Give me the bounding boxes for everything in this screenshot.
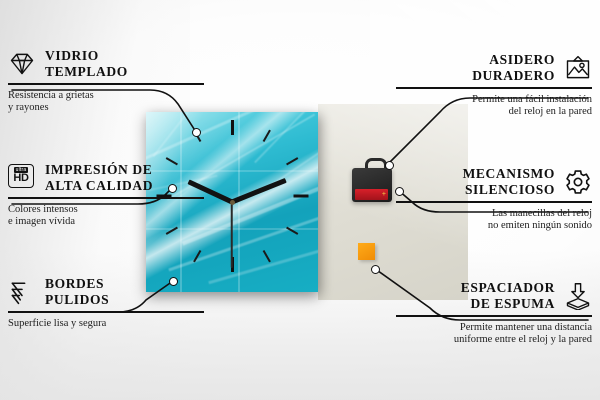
feature-title-line2: SILENCIOSO [465, 182, 555, 197]
connector-dot-asidero [385, 161, 394, 170]
feature-vidrio-templado: VIDRIO TEMPLADO Resistencia a grietas y … [8, 48, 204, 115]
feature-title: IMPRESIÓN DE ALTA CALIDAD [45, 162, 204, 193]
feature-subtitle-line2: del reloj en la pared [509, 106, 592, 117]
feature-subtitle: Permite una fácil instalación del reloj … [396, 94, 592, 119]
picture-frame-hook-icon [564, 54, 592, 82]
feature-title-line1: ASIDERO [489, 52, 555, 67]
clock-second-hand [231, 202, 233, 268]
feature-subtitle-line1: Resistencia a grietas [8, 90, 94, 101]
feature-divider [8, 83, 204, 85]
feature-title-line2: TEMPLADO [45, 64, 128, 79]
feature-title-line1: MECANISMO [463, 166, 555, 181]
feature-divider [396, 201, 592, 203]
feature-asidero-duradero: ASIDERO DURADERO Permite una fácil insta… [396, 52, 592, 119]
feature-title-line2: DURADERO [472, 68, 555, 83]
feature-subtitle-line2: y rayones [8, 102, 49, 113]
feature-title-line1: IMPRESIÓN DE [45, 162, 152, 177]
feature-subtitle: Colores intensos e imagen vívida [8, 204, 204, 229]
feature-divider [396, 315, 592, 317]
infographic-stage: + [0, 0, 600, 400]
feature-bordes-pulidos: BORDES PULIDOS Superficie lisa y segura [8, 276, 204, 330]
feature-subtitle-line2: e imagen vívida [8, 216, 75, 227]
feature-subtitle: Las manecillas del reloj no emiten ningú… [396, 208, 592, 233]
feature-espaciador-de-espuma: ESPACIADOR DE ESPUMA Permite mantener un… [396, 280, 592, 347]
polished-edges-icon [8, 278, 36, 306]
feature-subtitle-line1: Permite una fácil instalación [472, 94, 592, 105]
feature-impresion-alta-calidad: ultra HD IMPRESIÓN DE ALTA CALIDAD Color… [8, 162, 204, 229]
feature-subtitle-line1: Permite mantener una distancia [460, 322, 592, 333]
feature-title-line2: DE ESPUMA [470, 296, 555, 311]
feature-title: VIDRIO TEMPLADO [45, 48, 204, 79]
feature-title-line1: VIDRIO [45, 48, 99, 63]
feature-title: BORDES PULIDOS [45, 276, 204, 307]
feature-title: ESPACIADOR DE ESPUMA [396, 280, 555, 311]
feature-subtitle: Resistencia a grietas y rayones [8, 90, 204, 115]
foam-spacer [358, 243, 375, 260]
feature-divider [396, 87, 592, 89]
feature-title-line2: ALTA CALIDAD [45, 178, 153, 193]
feature-title-line2: PULIDOS [45, 292, 109, 307]
feature-subtitle-line2: no emiten ningún sonido [488, 220, 592, 231]
feature-subtitle-line2: uniforme entre el reloj y la pared [454, 334, 592, 345]
feature-mecanismo-silencioso: MECANISMO SILENCIOSO Las manecillas del … [396, 166, 592, 233]
ultra-hd-icon-main-label: HD [13, 173, 28, 184]
feature-subtitle: Permite mantener una distancia uniforme … [396, 322, 592, 347]
connector-dot-espaciador [371, 265, 380, 274]
diamond-icon [8, 50, 36, 78]
foam-spacer-arrow-icon [564, 282, 592, 310]
feature-divider [8, 197, 204, 199]
feature-subtitle-line1: Superficie lisa y segura [8, 318, 106, 329]
feature-title: MECANISMO SILENCIOSO [396, 166, 555, 197]
connector-dot-vidrio [192, 128, 201, 137]
feature-title-line1: ESPACIADOR [461, 280, 555, 295]
feature-title: ASIDERO DURADERO [396, 52, 555, 83]
clock-center-cap [230, 200, 235, 205]
feature-subtitle: Superficie lisa y segura [8, 318, 204, 331]
feature-subtitle-line1: Las manecillas del reloj [492, 208, 592, 219]
battery-plus-label: + [382, 191, 386, 198]
feature-subtitle-line1: Colores intensos [8, 204, 78, 215]
ultra-hd-icon: ultra HD [8, 164, 36, 192]
gear-icon [564, 168, 592, 196]
battery: + [355, 189, 388, 200]
feature-title-line1: BORDES [45, 276, 104, 291]
feature-divider [8, 311, 204, 313]
